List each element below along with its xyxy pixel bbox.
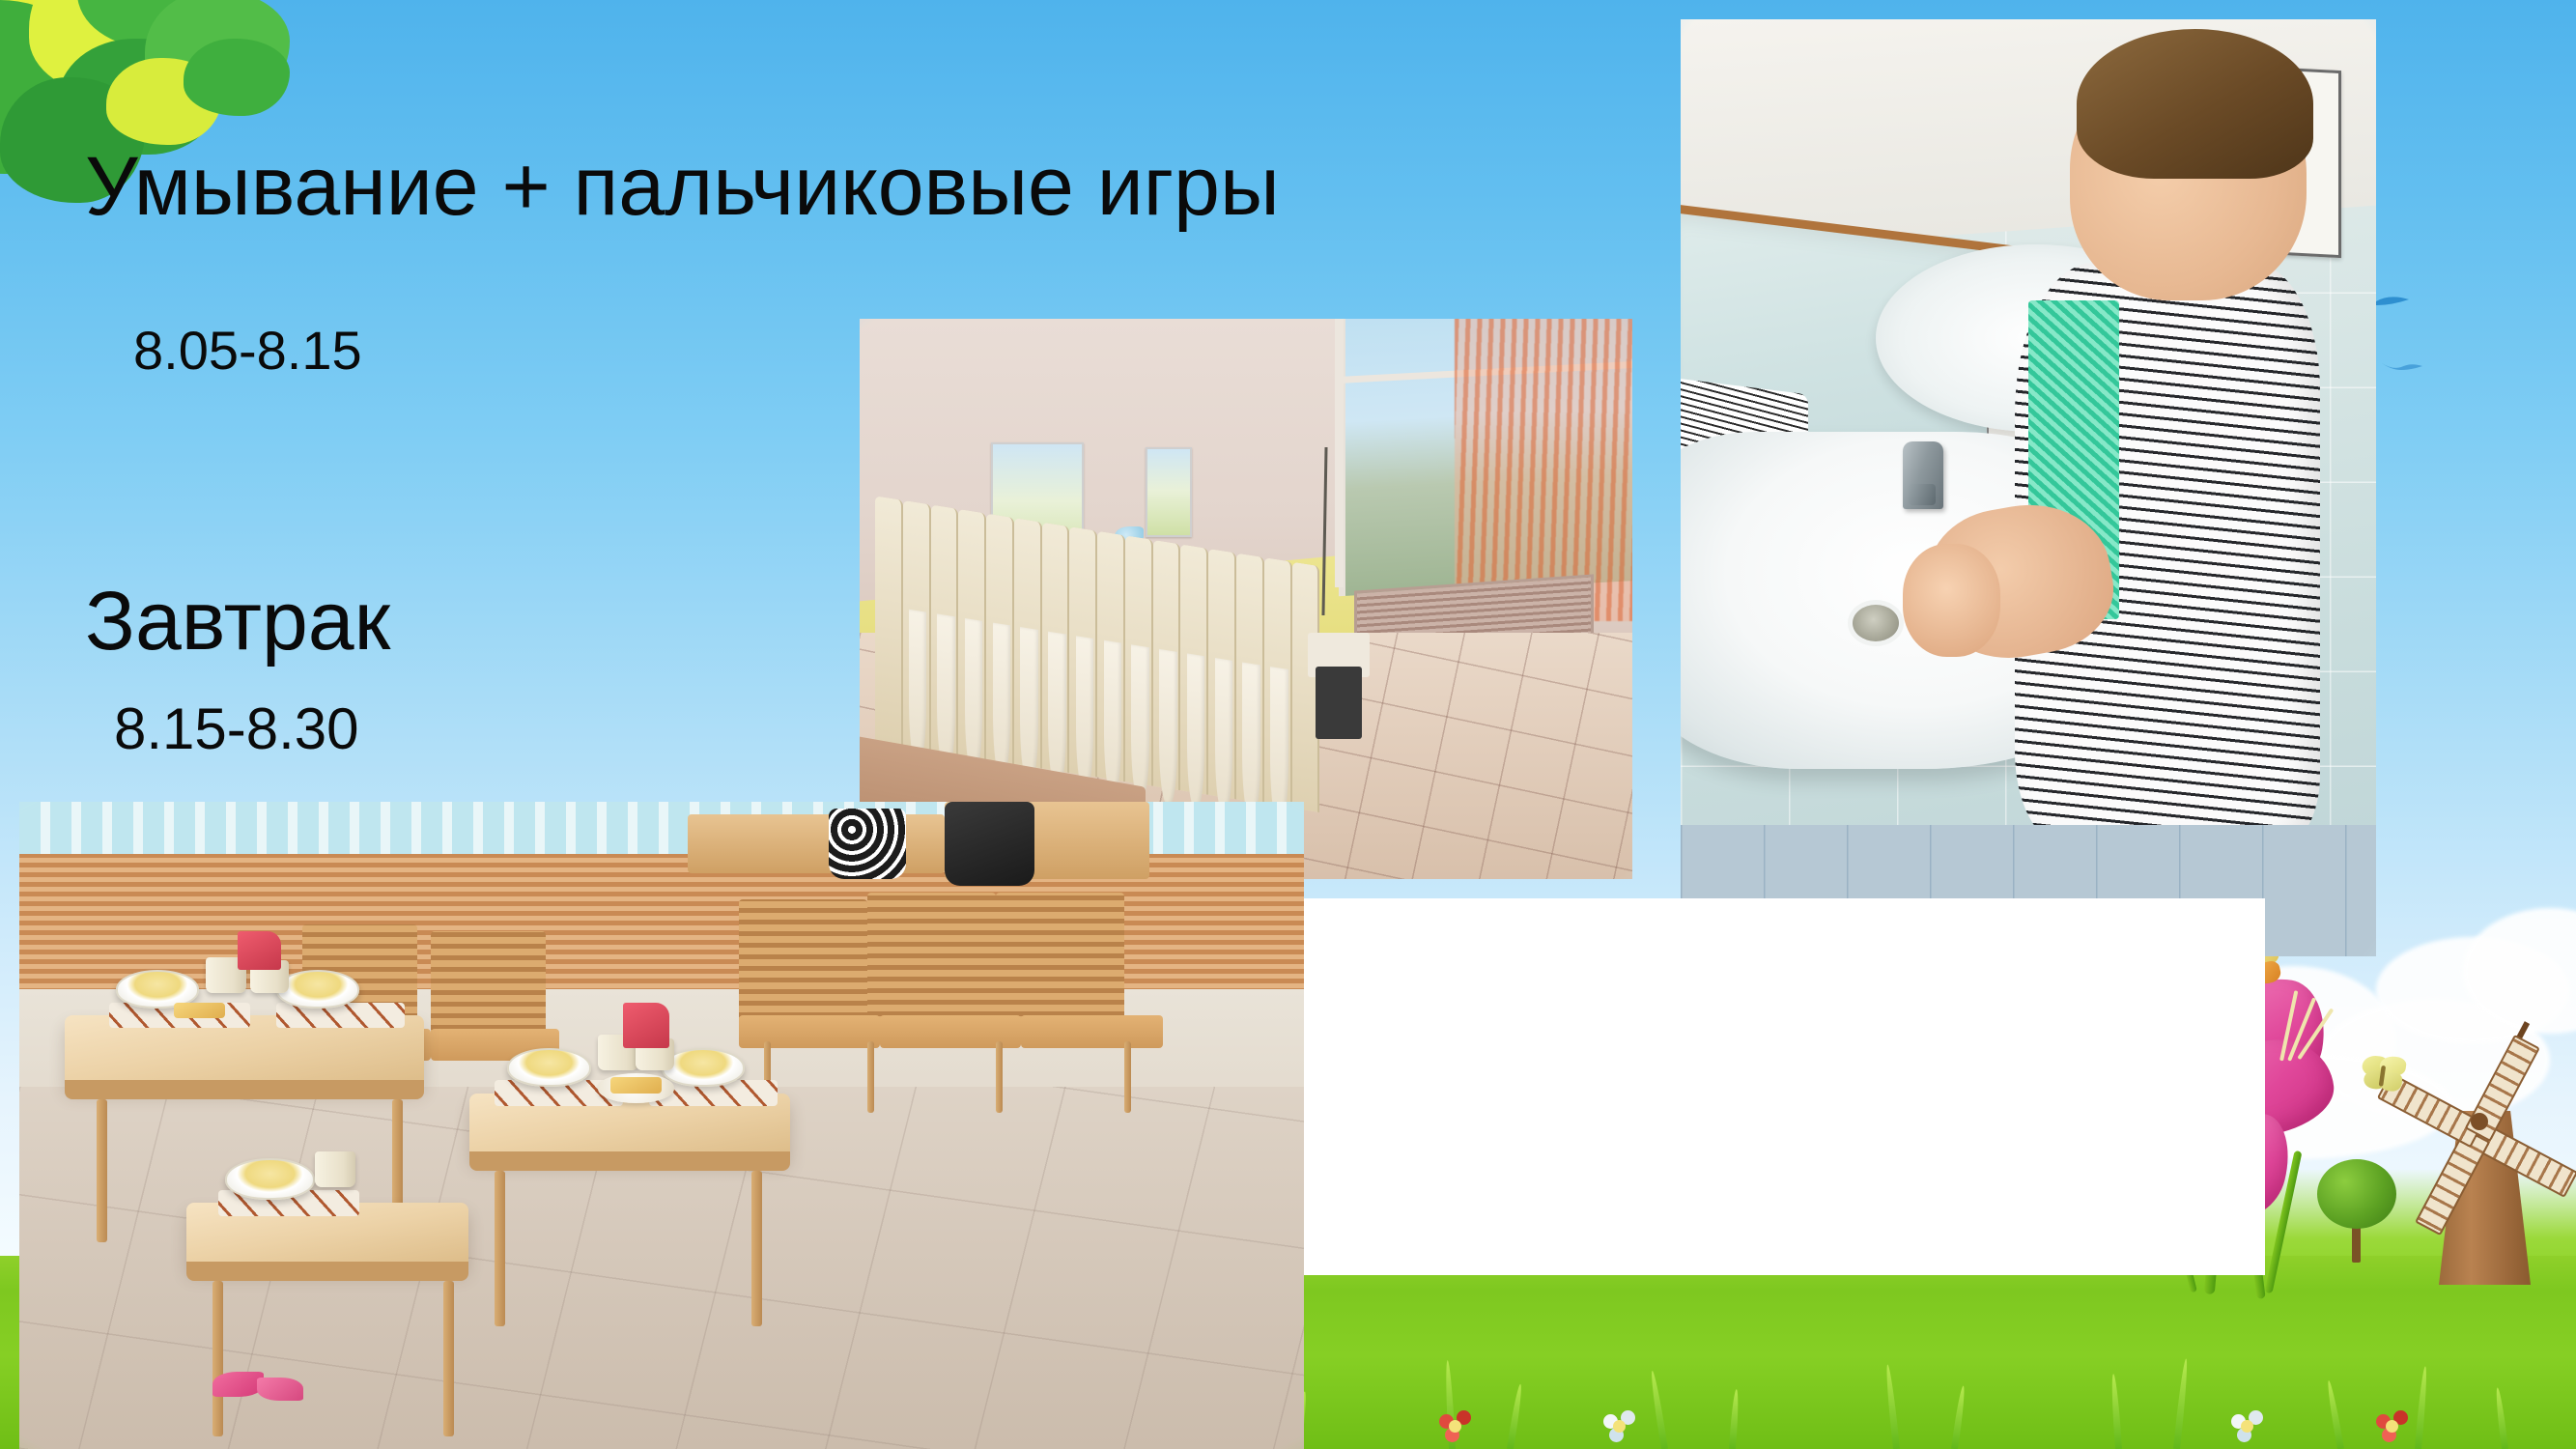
photo-boy-washing-hands: Внимание В случа [1681, 19, 2376, 956]
photo-children-breakfast [19, 802, 1304, 1449]
wall-poster [1146, 447, 1192, 537]
section-title-breakfast: Завтрак [85, 580, 390, 663]
butterfly-icon [2357, 1052, 2409, 1098]
photo-washroom-lockers [860, 319, 1632, 879]
activity-time-2: 8.15-8.30 [114, 696, 359, 762]
mini-flower [2231, 1410, 2264, 1443]
activity-time-1: 8.05-8.15 [133, 319, 362, 382]
slide-title: Умывание + пальчиковые игры [85, 145, 1280, 228]
mini-flower [1439, 1410, 1472, 1443]
white-panel [1299, 898, 2265, 1275]
napkin [623, 1003, 669, 1048]
boy-hands [1903, 544, 2000, 656]
backpack [829, 809, 906, 880]
bowl [225, 1158, 315, 1201]
waste-bin [1316, 667, 1362, 739]
cup [315, 1151, 356, 1187]
curtain [1455, 319, 1632, 621]
hair-bow [212, 1372, 264, 1398]
mini-flower [1603, 1410, 1636, 1443]
presentation-slide: Внимание В случа [0, 0, 2576, 1449]
bird-icon [2381, 359, 2423, 375]
backpack [945, 802, 1034, 886]
faucet [1903, 441, 1943, 509]
hair-bow [257, 1378, 303, 1401]
bowl [507, 1048, 590, 1087]
mini-flower [2376, 1410, 2409, 1443]
